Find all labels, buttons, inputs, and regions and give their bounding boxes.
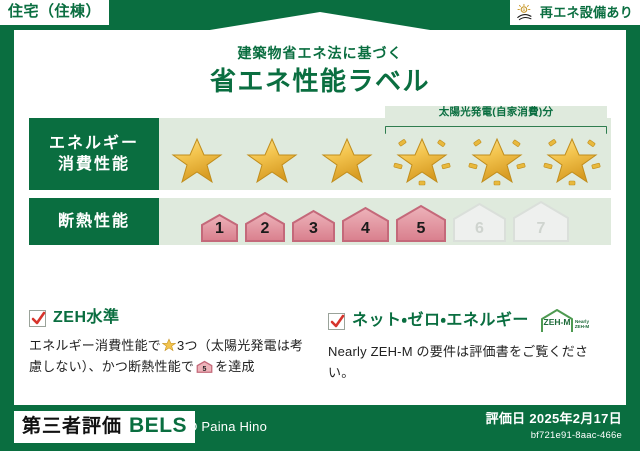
insulation-performance-label: 断熱性能 — [29, 198, 159, 245]
label-title: 省エネ性能ラベル — [0, 64, 640, 98]
zeh-standard-title: ZEH水準 — [53, 308, 120, 328]
zeh-standard-header: ZEH水準 — [29, 308, 314, 328]
net-zero-energy-body: Nearly ZEH-M の要件は評価書をご覧ください。 — [328, 341, 613, 383]
zeh-standard-text-2: 3つ（太陽光発電 — [177, 338, 277, 353]
evaluation-id: bf721e91-8aac-466e — [486, 429, 622, 442]
insulation-level-3-number: 3 — [290, 220, 337, 238]
energy-performance-label: エネルギー 消費性能 — [29, 118, 159, 190]
insulation-level-7-number: 7 — [511, 220, 571, 238]
performance-rows: エネルギー 消費性能 太陽光発電(自家消費)分 — [29, 118, 611, 253]
star-1 — [159, 134, 234, 188]
evaluation-info: 評価日 2025年2月17日 bf721e91-8aac-466e — [486, 410, 622, 442]
checkbox-checked-icon — [29, 310, 46, 327]
insulation-level-5: 5 — [394, 203, 448, 242]
energy-performance-row: エネルギー 消費性能 太陽光発電(自家消費)分 — [29, 118, 611, 190]
checkbox-checked-icon — [328, 313, 345, 330]
star-4-solar — [384, 134, 459, 188]
star-icon — [171, 136, 223, 186]
energy-label-line2: 消費性能 — [58, 154, 130, 175]
svg-text:ZEH-M: ZEH-M — [543, 317, 570, 327]
net-zero-energy-header: ネット・ゼロ・エネルギー ZEH-M Nearly ZEH-M — [328, 308, 613, 334]
zeh-info-columns: ZEH水準 エネルギー消費性能で3つ（太陽光発電は考慮しない）、かつ断熱性能で5… — [29, 308, 611, 383]
insulation-level-scale: 1 2 3 — [159, 198, 611, 245]
building-name: D Paina Hino — [188, 418, 267, 436]
zeh-standard-body: エネルギー消費性能で3つ（太陽光発電は考慮しない）、かつ断熱性能で5を達成 — [29, 335, 314, 377]
insulation-level-6-number: 6 — [451, 220, 508, 238]
insulation-level-1: 1 — [199, 212, 240, 242]
insulation-level-3: 3 — [290, 208, 337, 242]
energy-performance-value: 太陽光発電(自家消費)分 — [159, 118, 611, 190]
net-zero-energy-title: ネット・ゼロ・エネルギー — [352, 311, 529, 331]
building-type-tag-label: 住宅（住棟） — [8, 3, 101, 20]
zeh-standard-text-1: エネルギー消費性能で — [29, 338, 161, 353]
bels-logo-text: BELS — [129, 414, 187, 438]
svg-text:ZEH-M: ZEH-M — [575, 324, 590, 329]
star-icon — [471, 136, 523, 186]
insulation-level-2-number: 2 — [243, 220, 287, 238]
star-icon — [321, 136, 373, 186]
footer-bar: 第三者評価 BELS D Paina Hino 評価日 2025年2月17日 b… — [0, 405, 640, 451]
evaluation-date: 評価日 2025年2月17日 — [486, 410, 622, 428]
insulation-level-2: 2 — [243, 210, 287, 242]
insulation-level-4-number: 4 — [340, 220, 391, 238]
insulation-level-1-number: 1 — [199, 220, 240, 238]
star-2 — [234, 134, 309, 188]
insulation-level-4: 4 — [340, 205, 391, 242]
star-icon — [162, 338, 176, 352]
insulation-performance-value: 1 2 3 — [159, 198, 611, 245]
bels-jp-label: 第三者評価 — [22, 415, 122, 439]
zeh-standard-text-4: を達成 — [215, 359, 255, 374]
energy-performance-label: 住宅（住棟） D 再エネ設備あり 建築物省エネ法に基づく 省エネ性能ラベ — [0, 0, 640, 451]
star-icon — [396, 136, 448, 186]
star-6-solar — [534, 134, 609, 188]
star-5-solar — [459, 134, 534, 188]
star-3 — [309, 134, 384, 188]
net-zero-energy-column: ネット・ゼロ・エネルギー ZEH-M Nearly ZEH-M Nearly Z… — [328, 308, 613, 383]
energy-star-rating — [159, 134, 611, 188]
svg-text:5: 5 — [203, 366, 207, 373]
insulation-level-6: 6 — [451, 201, 508, 242]
solar-bracket-label: 太陽光発電(自家消費)分 — [385, 106, 607, 118]
insulation-level-5-number: 5 — [394, 220, 448, 238]
bels-certification-box: 第三者評価 BELS — [14, 411, 195, 443]
star-icon — [546, 136, 598, 186]
renewable-energy-tag-label: 再エネ設備あり — [540, 4, 633, 21]
label-subtitle: 建築物省エネ法に基づく — [0, 44, 640, 62]
insulation-label-text: 断熱性能 — [58, 211, 130, 232]
zeh-m-badge-icon: ZEH-M Nearly ZEH-M — [538, 308, 590, 334]
renewable-energy-tag: D 再エネ設備あり — [510, 0, 640, 25]
solar-bracket-line — [385, 126, 607, 134]
insulation-performance-row: 断熱性能 1 — [29, 198, 611, 245]
star-icon — [246, 136, 298, 186]
sun-solar-icon: D — [516, 3, 536, 21]
solar-bracket-group: 太陽光発電(自家消費)分 — [385, 119, 607, 134]
title-block: 建築物省エネ法に基づく 省エネ性能ラベル — [0, 44, 640, 98]
zeh-standard-column: ZEH水準 エネルギー消費性能で3つ（太陽光発電は考慮しない）、かつ断熱性能で5… — [29, 308, 314, 383]
insulation-level-7: 7 — [511, 199, 571, 242]
energy-label-line1: エネルギー — [49, 133, 139, 154]
house-icon: 5 — [196, 359, 213, 374]
building-type-tag: 住宅（住棟） — [0, 0, 109, 25]
svg-text:D: D — [523, 8, 526, 12]
